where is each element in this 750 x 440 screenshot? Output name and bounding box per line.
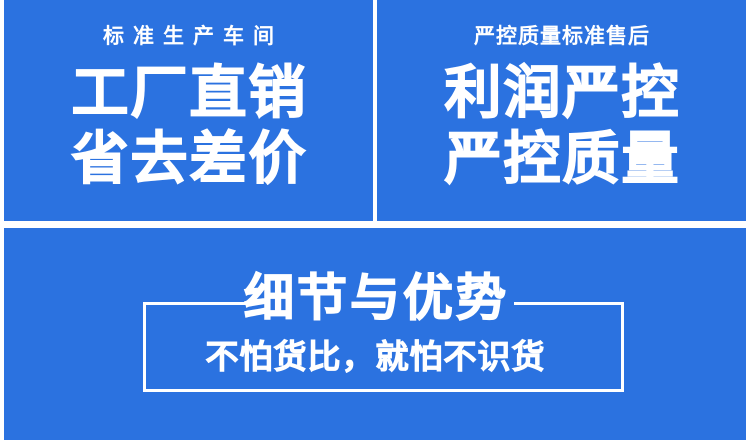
- top-panel-row: 标准生产车间 工厂直销 省去差价 严控质量标准售后 利润严控 严控质量: [0, 0, 750, 221]
- panel-details-advantages: 细节与优势 不怕货比，就怕不识货: [4, 228, 746, 440]
- frame-bottom-edge: [143, 389, 624, 392]
- panel-factory-direct: 标准生产车间 工厂直销 省去差价: [4, 0, 373, 221]
- panel-factory-direct-headline-line2: 省去差价: [70, 126, 308, 192]
- panel-quality-control-eyebrow: 严控质量标准售后: [473, 22, 650, 52]
- panel-quality-control-headline-line2: 严控质量: [443, 126, 681, 192]
- panel-quality-control-headline-line1: 利润严控: [443, 60, 681, 126]
- panel-quality-control: 严控质量标准售后 利润严控 严控质量: [377, 0, 746, 221]
- panel-factory-direct-headline-line1: 工厂直销: [70, 60, 308, 126]
- promo-banner: 标准生产车间 工厂直销 省去差价 严控质量标准售后 利润严控 严控质量 细节与优…: [0, 0, 750, 440]
- details-subtitle: 不怕货比，就怕不识货: [4, 336, 746, 378]
- details-title: 细节与优势: [4, 268, 746, 328]
- panel-factory-direct-eyebrow: 标准生产车间: [94, 22, 283, 52]
